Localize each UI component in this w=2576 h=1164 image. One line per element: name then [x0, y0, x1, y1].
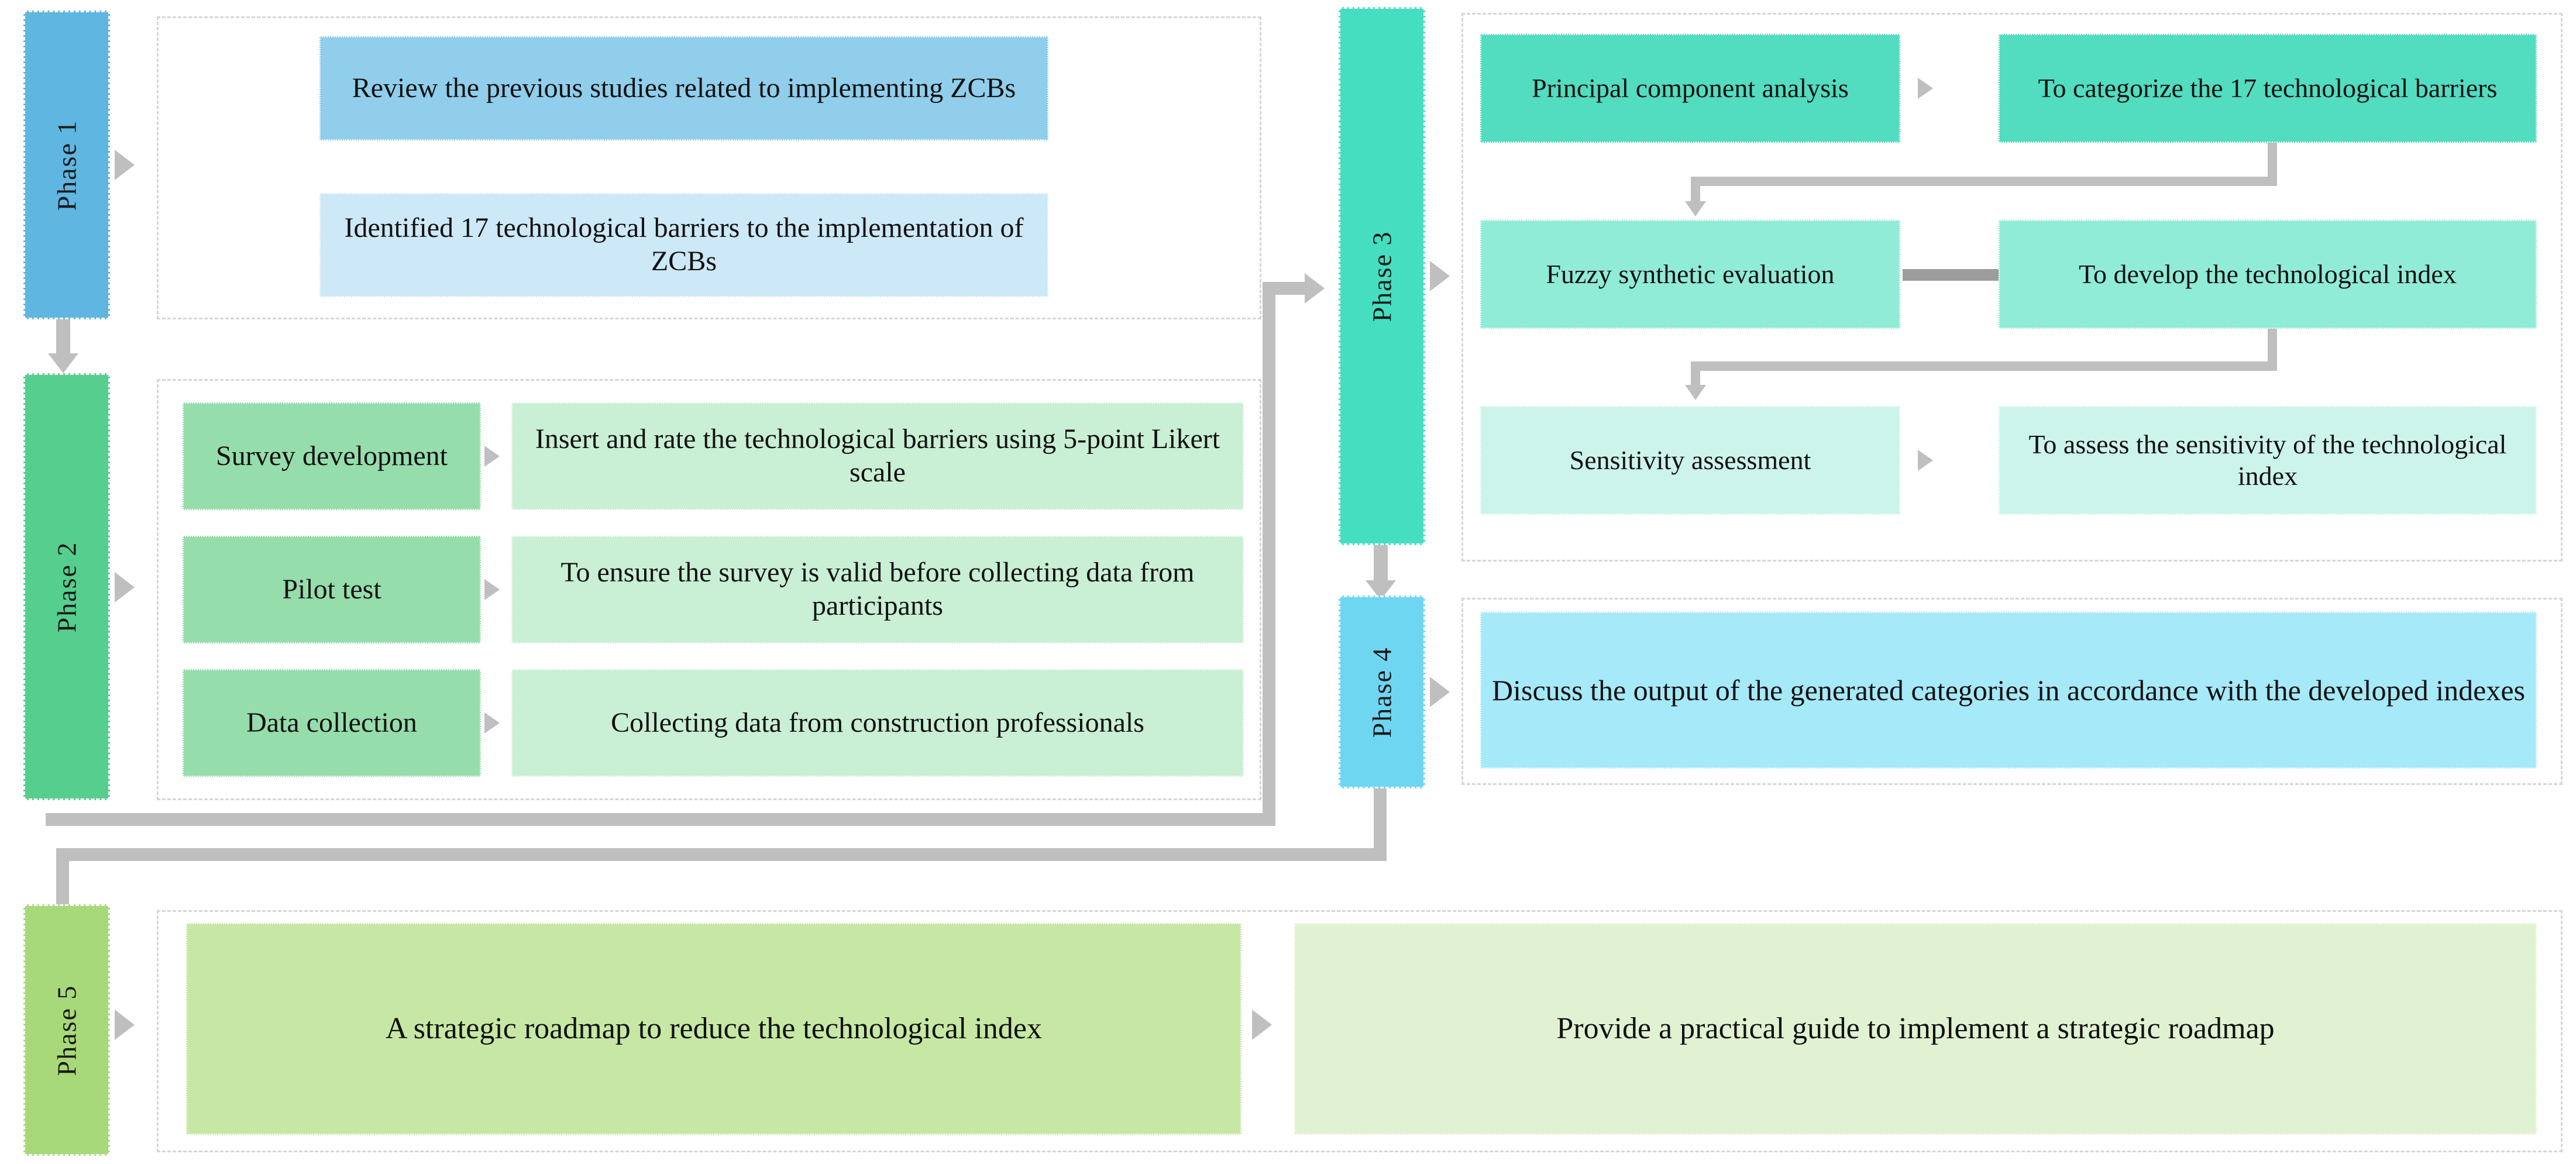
phase-3-row-1-right[interactable]: To categorize the 17 technological barri… [1999, 34, 2537, 143]
arrow-phase5-to-group [115, 1010, 135, 1040]
phase-2-row-3-right[interactable]: Collecting data from construction profes… [511, 669, 1244, 777]
phase-1-bar[interactable]: Phase 1 [23, 11, 110, 319]
phase-3-row-3-left[interactable]: Sensitivity assessment [1480, 406, 1900, 515]
phase-1-box-1[interactable]: Review the previous studies related to i… [319, 36, 1048, 140]
phase-2-bar[interactable]: Phase 2 [23, 373, 110, 800]
connector-p2-to-p3-horizontal-bottom [46, 813, 1275, 826]
connector-cat-to-fuzzy-horizontal [1691, 177, 2277, 186]
connector-p4-to-p5-vertical [1374, 788, 1387, 857]
arrow-phase2-row-1 [484, 446, 500, 467]
arrow-phase3-row-1 [1918, 78, 1933, 99]
phase-2-row-2-right[interactable]: To ensure the survey is valid before col… [511, 536, 1244, 643]
phase-3-row-2-right[interactable]: To develop the technological index [1999, 220, 2537, 329]
phase-4-label: Phase 4 [1367, 646, 1398, 738]
phase-2-row-2-left[interactable]: Pilot test [183, 536, 481, 643]
phase-2-row-1-left[interactable]: Survey development [183, 402, 481, 510]
phase-5-label: Phase 5 [51, 984, 82, 1076]
arrow-phase4-to-group [1430, 677, 1450, 707]
arrow-phase2-to-group [115, 572, 135, 602]
arrow-cat-to-fuzzy [1685, 201, 1706, 216]
connector-idx-to-sens-horizontal [1691, 361, 2277, 371]
arrow-phase1-to-group [115, 150, 135, 180]
phase-5-box-1[interactable]: A strategic roadmap to reduce the techno… [186, 923, 1241, 1135]
connector-p2-to-p3-vertical [1263, 282, 1275, 826]
phase-3-label: Phase 3 [1367, 230, 1398, 322]
arrow-phase3-to-group [1430, 261, 1450, 291]
phase-2-row-1-right[interactable]: Insert and rate the technological barrie… [511, 402, 1244, 510]
phase-3-row-1-left[interactable]: Principal component analysis [1480, 34, 1900, 143]
arrow-phase3-row-3 [1918, 450, 1933, 471]
arrow-idx-to-sens [1685, 385, 1706, 400]
phase-1-box-2[interactable]: Identified 17 technological barriers to … [319, 193, 1048, 297]
connector-phase3-row-2-link [1903, 269, 2001, 281]
flowchart-canvas: Phase 1 Review the previous studies rela… [0, 0, 2576, 1164]
arrow-phase1-to-phase2 [48, 353, 78, 373]
phase-2-row-3-left[interactable]: Data collection [183, 669, 481, 777]
arrow-phase2-to-phase3 [1305, 273, 1325, 304]
phase-1-label: Phase 1 [51, 119, 82, 211]
arrow-phase2-row-2 [484, 579, 500, 600]
arrow-phase5-roadmap-to-guide [1252, 1010, 1272, 1040]
phase-4-box-1[interactable]: Discuss the output of the generated cate… [1480, 612, 2537, 769]
phase-2-label: Phase 2 [51, 541, 82, 632]
phase-3-bar[interactable]: Phase 3 [1339, 7, 1425, 545]
phase-5-bar[interactable]: Phase 5 [23, 904, 110, 1156]
phase-3-row-3-right[interactable]: To assess the sensitivity of the technol… [1999, 406, 2537, 515]
connector-p4-to-p5-horizontal [56, 848, 1387, 861]
arrow-phase2-row-3 [484, 712, 500, 733]
connector-p2-to-p3-horizontal-top [1263, 282, 1309, 295]
phase-5-box-2[interactable]: Provide a practical guide to implement a… [1294, 923, 2537, 1135]
phase-3-row-2-left[interactable]: Fuzzy synthetic evaluation [1480, 220, 1900, 329]
phase-4-bar[interactable]: Phase 4 [1339, 595, 1425, 788]
